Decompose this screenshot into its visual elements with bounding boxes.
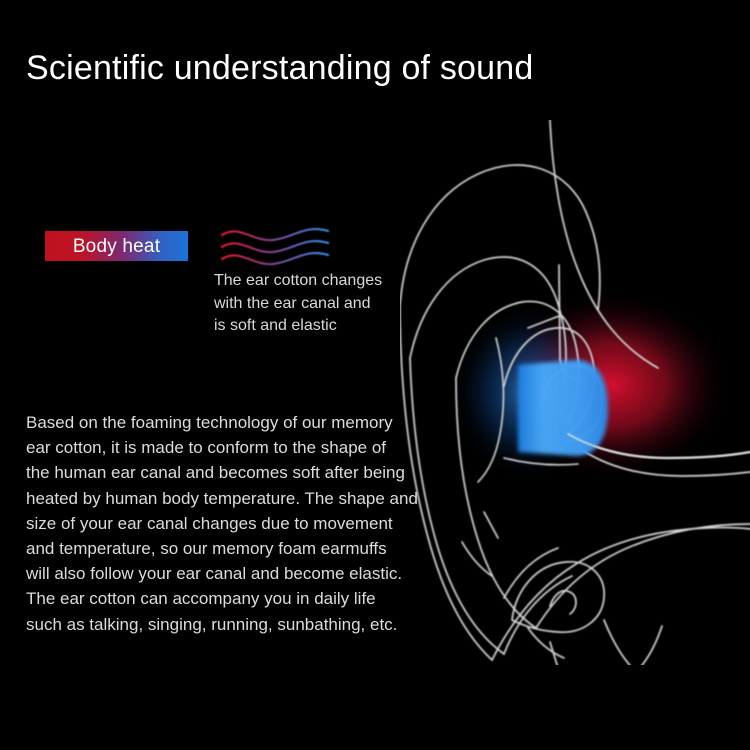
product-infographic-page: Scientific understanding of sound Body h… [0, 0, 750, 750]
description-line: and temperature, so our memory foam earm… [26, 536, 446, 561]
wave-caption-line: The ear cotton changes [214, 270, 414, 293]
wave-caption-line: with the ear canal and [214, 293, 414, 316]
description-line: will also follow your ear canal and beco… [26, 561, 446, 586]
heat-wave-lines-icon [219, 222, 331, 268]
description-line: heated by human body temperature. The sh… [26, 486, 446, 511]
description-line: The ear cotton can accompany you in dail… [26, 586, 446, 611]
description-line: the human ear canal and becomes soft aft… [26, 460, 446, 485]
description-line: Based on the foaming technology of our m… [26, 410, 446, 435]
wave-caption: The ear cotton changes with the ear cana… [214, 270, 414, 338]
page-title: Scientific understanding of sound [26, 48, 534, 88]
ear-outline-strokes [400, 120, 750, 665]
description-line: ear cotton, it is made to conform to the… [26, 435, 446, 460]
cool-glow [450, 302, 606, 482]
description-line: such as talking, singing, running, sunba… [26, 612, 446, 637]
description-line: size of your ear canal changes due to mo… [26, 511, 446, 536]
description-paragraph: Based on the foaming technology of our m… [26, 410, 446, 637]
body-heat-label: Body heat [73, 237, 160, 256]
body-heat-badge: Body heat [45, 231, 188, 261]
ear-outline-foreground [478, 338, 750, 482]
wave-caption-line: is soft and elastic [214, 315, 414, 338]
ear-cross-section-diagram [400, 120, 750, 665]
